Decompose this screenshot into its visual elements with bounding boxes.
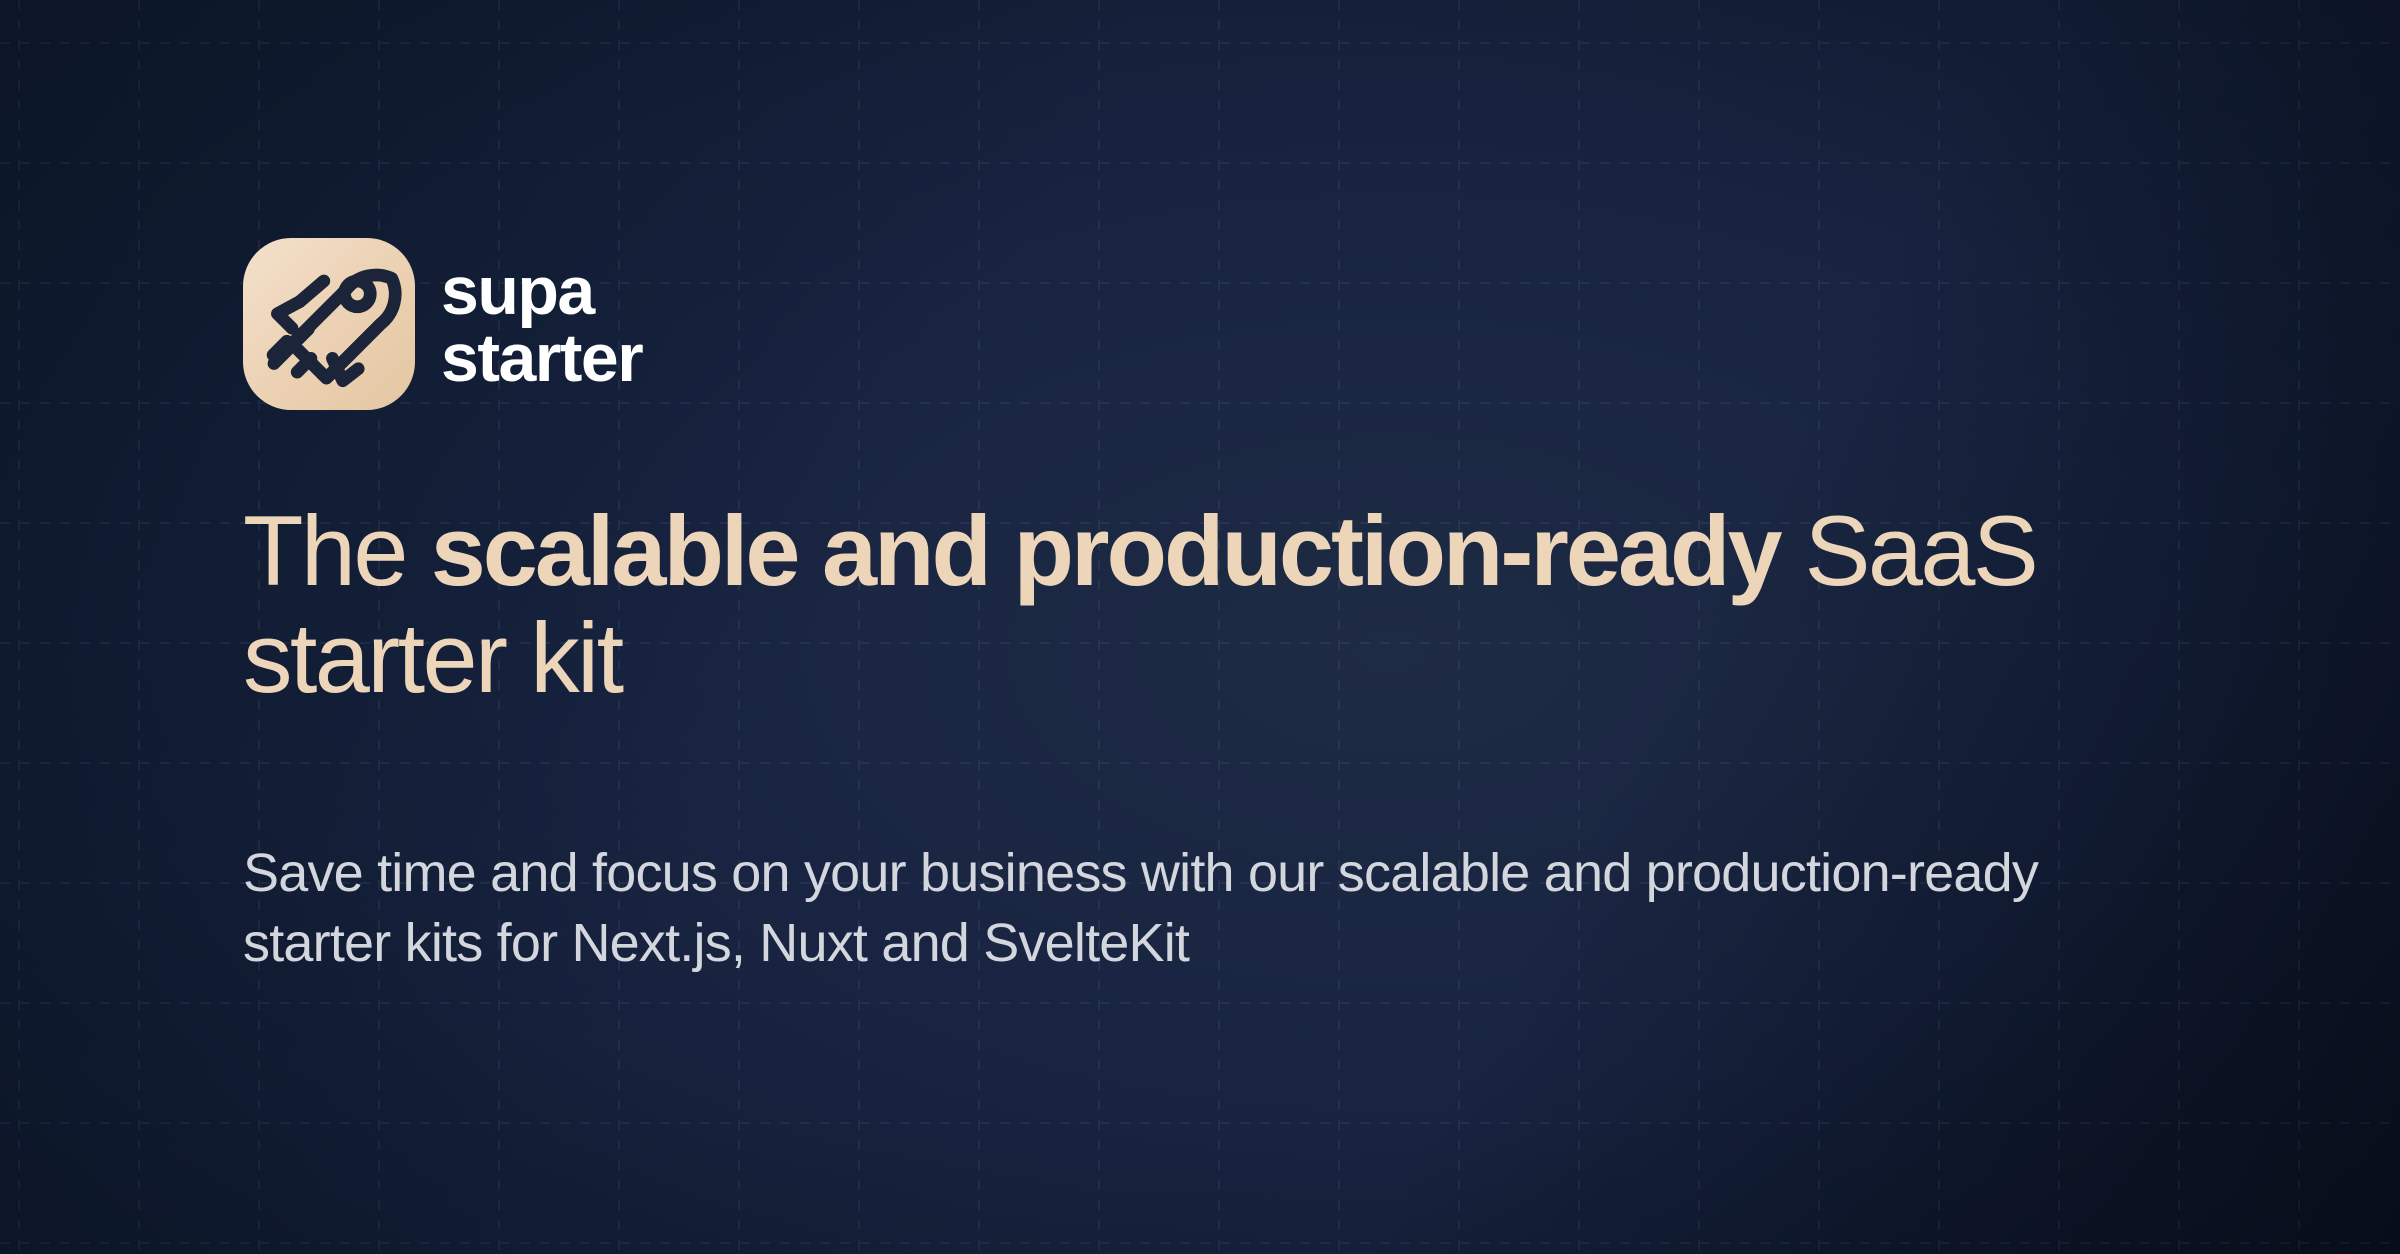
headline-prefix: The	[243, 495, 431, 606]
headline-emphasis: scalable and production-ready	[431, 495, 1780, 606]
hero-content: supa starter The scalable and production…	[243, 0, 2243, 1254]
hero-banner: supa starter The scalable and production…	[0, 0, 2400, 1254]
brand-logo[interactable]: supa starter	[243, 238, 642, 410]
hero-subtitle: Save time and focus on your business wit…	[243, 838, 2143, 978]
rocket-icon	[243, 238, 415, 410]
brand-wordmark: supa starter	[441, 258, 642, 391]
hero-headline: The scalable and production-ready SaaS s…	[243, 498, 2063, 712]
wordmark-line-supa: supa	[441, 258, 642, 325]
wordmark-line-starter: starter	[441, 325, 642, 392]
